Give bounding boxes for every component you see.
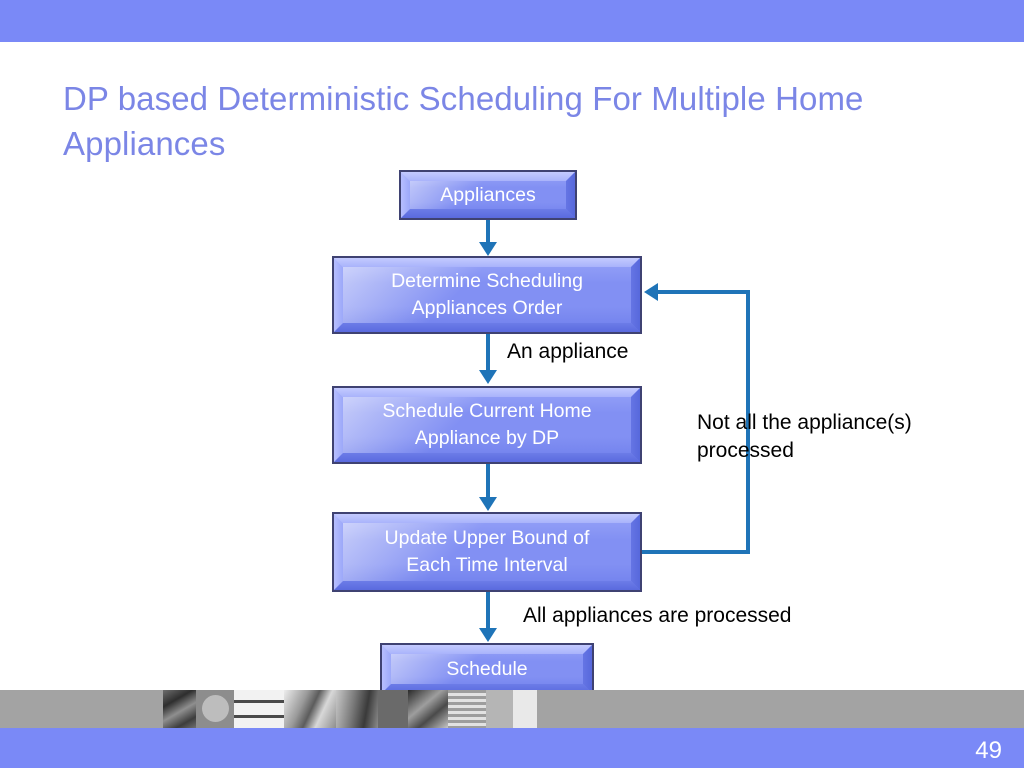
collage-tile (448, 690, 486, 728)
slide-canvas: DP based Deterministic Scheduling For Mu… (0, 0, 1024, 768)
connector-schedule-current-to-update-bound (486, 464, 490, 498)
flow-node-determine-scheduling-order[interactable]: Determine Scheduling Appliances Order (332, 256, 642, 334)
collage-tile (378, 690, 408, 728)
collage-tile (408, 690, 448, 728)
collage-tile (196, 690, 234, 728)
collage-tile (284, 690, 336, 728)
feedback-connector-segment-bottom (642, 550, 750, 554)
connector-determine-to-schedule-current (486, 334, 490, 370)
footer-blue-band (0, 728, 1024, 768)
collage-tile (513, 690, 537, 728)
arrowhead-down-icon (479, 497, 497, 511)
edge-label-all-processed: All appliances are processed (523, 602, 792, 630)
collage-tile (163, 690, 196, 728)
flow-node-label: Schedule Current Home Appliance by DP (372, 398, 601, 452)
footer-photo-collage (163, 690, 537, 728)
flow-node-label: Schedule (436, 656, 537, 683)
flow-node-label: Determine Scheduling Appliances Order (381, 268, 593, 322)
collage-tile (486, 690, 513, 728)
collage-tile (234, 690, 284, 728)
arrowhead-down-icon (479, 628, 497, 642)
page-title: DP based Deterministic Scheduling For Mu… (63, 76, 963, 166)
edge-label-an-appliance: An appliance (507, 338, 628, 366)
arrowhead-down-icon (479, 242, 497, 256)
arrowhead-down-icon (479, 370, 497, 384)
flow-node-label: Appliances (430, 182, 545, 209)
flow-node-schedule[interactable]: Schedule (380, 643, 594, 695)
flow-node-label: Update Upper Bound of Each Time Interval (375, 525, 600, 579)
feedback-connector-segment-top (658, 290, 750, 294)
flow-node-update-upper-bound[interactable]: Update Upper Bound of Each Time Interval (332, 512, 642, 592)
edge-label-not-all-processed: Not all the appliance(s) processed (697, 409, 987, 465)
connector-update-bound-to-schedule (486, 592, 490, 628)
page-number: 49 (975, 737, 1002, 765)
arrowhead-left-icon (644, 283, 658, 301)
collage-tile (336, 690, 378, 728)
flow-node-appliances[interactable]: Appliances (399, 170, 577, 220)
flow-node-schedule-current-home-appliance[interactable]: Schedule Current Home Appliance by DP (332, 386, 642, 464)
connector-appliances-to-determine (486, 220, 490, 244)
top-decorative-band (0, 0, 1024, 42)
